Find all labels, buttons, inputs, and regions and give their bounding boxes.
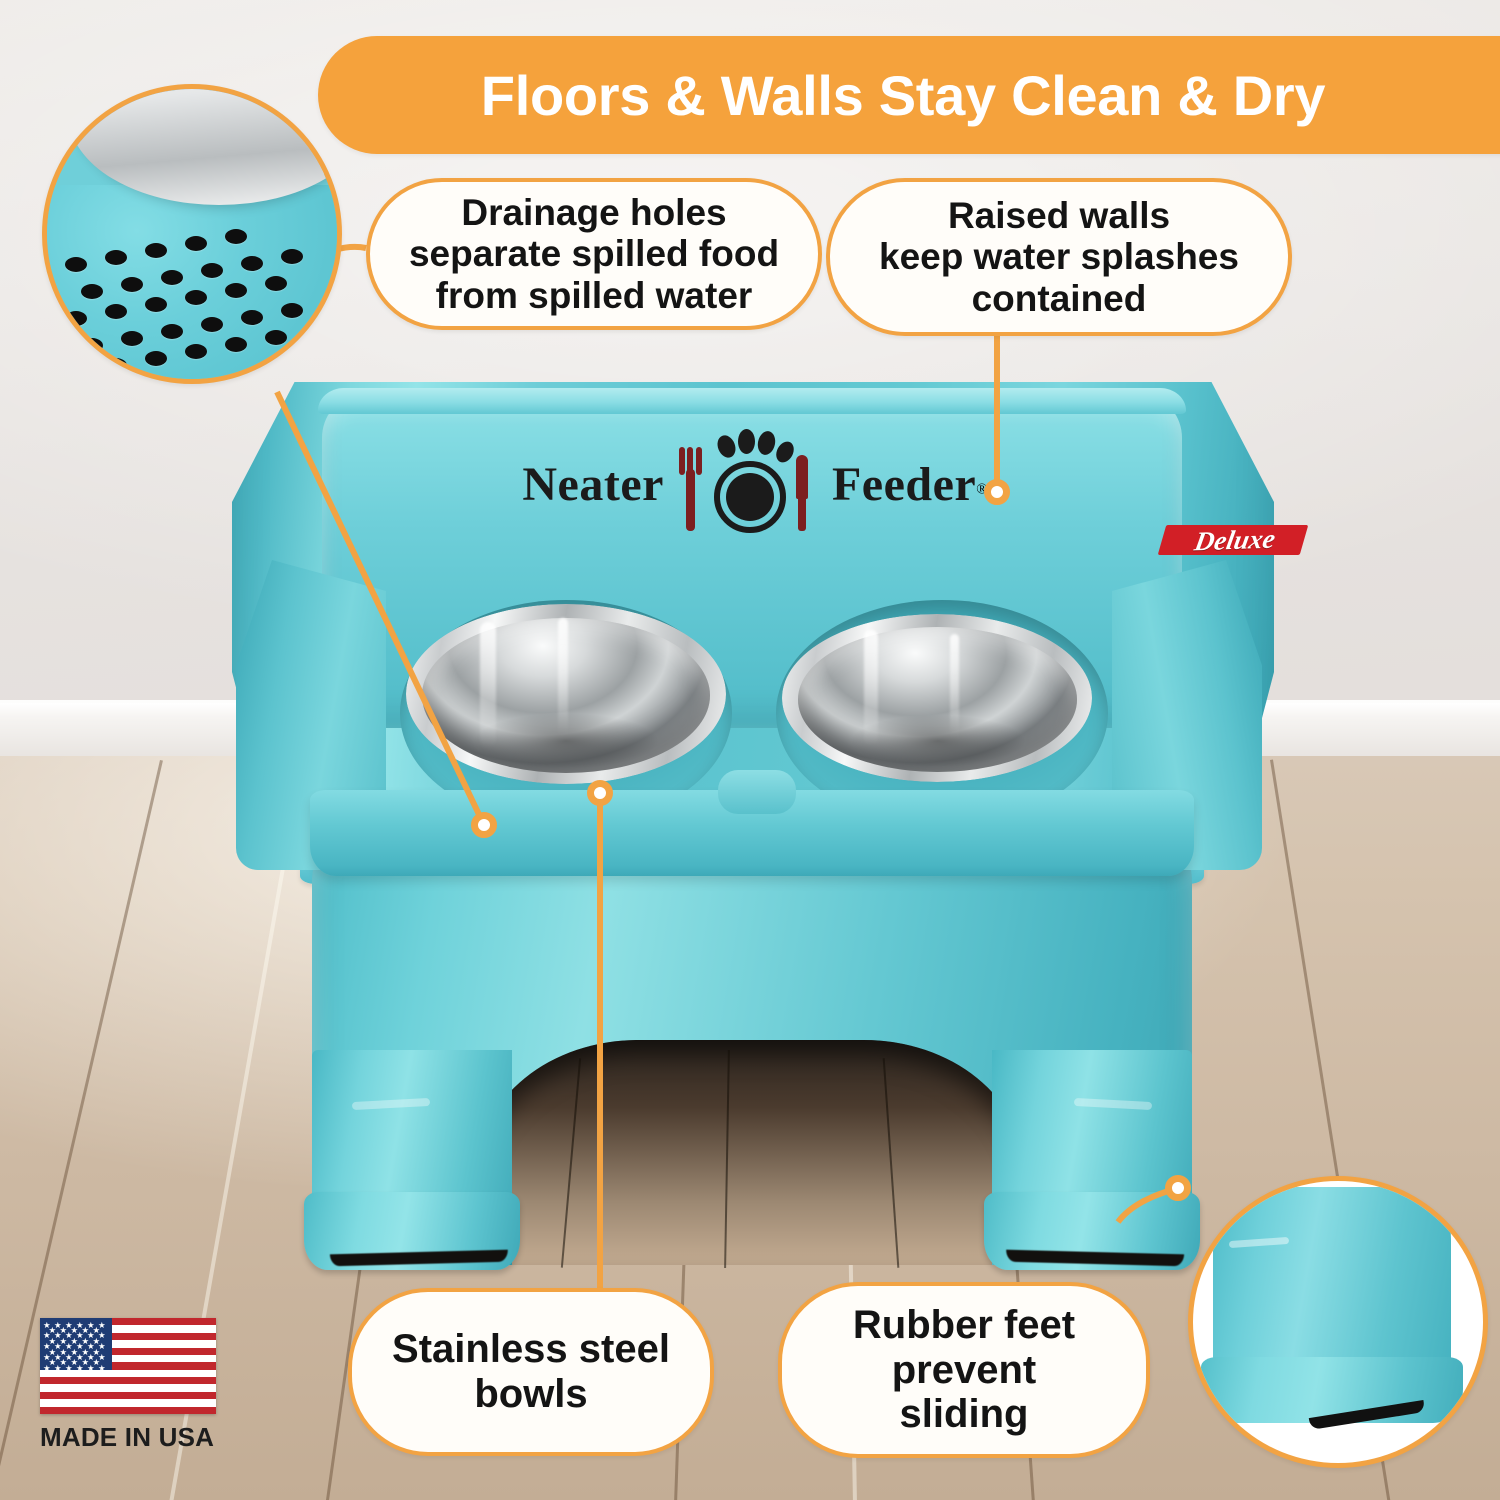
drainage-hole [281, 303, 303, 318]
header-banner: Floors & Walls Stay Clean & Dry [318, 36, 1500, 154]
drainage-hole [225, 229, 247, 244]
drainage-hole [265, 276, 287, 291]
drainage-hole [161, 270, 183, 285]
connector-endpoint-feet [1165, 1175, 1191, 1201]
flag-star: ★ [76, 1364, 84, 1373]
inset-drainage-holes [42, 84, 342, 384]
inset-foot-base [1201, 1357, 1463, 1423]
drainage-hole [185, 344, 207, 359]
paw-toe [756, 429, 778, 456]
arch-floor-seam [883, 1058, 900, 1268]
connector-endpoint-drainage [471, 812, 497, 838]
made-in-usa-label: MADE IN USA [40, 1422, 236, 1453]
paw-plate-fork-knife-icon [668, 433, 828, 537]
flag-stripe [40, 1384, 216, 1391]
drainage-hole [81, 338, 103, 353]
made-in-usa-badge: ★★★★★★★★★★★★★★★★★★★★★★★★★★★★★★★★★★★★★★★★… [40, 1318, 236, 1452]
logo-word-feeder: Feeder [832, 458, 976, 511]
drainage-hole [121, 277, 143, 292]
infographic-canvas: Neater Feeder® Deluxe [0, 0, 1500, 1500]
stainless-bowl-left [406, 604, 726, 784]
arch-floor-seam [561, 1058, 581, 1267]
flag-stripe [40, 1392, 216, 1399]
fork-tine [687, 447, 693, 475]
bowl-bottom-shadow [834, 710, 1042, 772]
fork-tine [679, 447, 685, 475]
drainage-hole [81, 284, 103, 299]
connector-endpoint-bowls [587, 780, 613, 806]
fork-icon [686, 469, 695, 531]
knife-handle [798, 495, 806, 531]
flag-canton: ★★★★★★★★★★★★★★★★★★★★★★★★★★★★★★★★★★★★★★★★… [40, 1318, 112, 1370]
logo-deluxe-label: Deluxe [1160, 521, 1309, 560]
flag-star: ★ [54, 1364, 62, 1373]
flag-star: ★ [43, 1364, 51, 1373]
flag-stripe [40, 1399, 216, 1406]
drainage-hole [121, 331, 143, 346]
drainage-hole [241, 256, 263, 271]
paw-toe [714, 433, 738, 461]
feeder-top-rim [318, 388, 1186, 414]
drainage-hole [145, 243, 167, 258]
drainage-hole [201, 263, 223, 278]
callout-raised-walls: Raised walls keep water splashes contain… [826, 178, 1292, 336]
inset-leg-body [1213, 1187, 1451, 1383]
drainage-hole [225, 283, 247, 298]
drainage-hole [145, 351, 167, 366]
fork-tine [696, 447, 702, 475]
callout-rubber-feet: Rubber feet prevent sliding [778, 1282, 1150, 1458]
drainage-hole [65, 311, 87, 326]
flag-star: ★ [98, 1364, 106, 1373]
page-title: Floors & Walls Stay Clean & Dry [481, 63, 1347, 128]
callout-walls-text: Raised walls keep water splashes contain… [879, 195, 1239, 319]
neater-feeder-logo: Neater Feeder® Deluxe [520, 432, 990, 538]
drainage-hole [201, 317, 223, 332]
bowl-divider-ridge [718, 770, 796, 814]
base-arch-opening [478, 1040, 1024, 1265]
callout-stainless-bowls: Stainless steel bowls [348, 1288, 714, 1456]
logo-word-neater: Neater [522, 461, 664, 509]
paw-toe [773, 439, 797, 466]
knife-icon [796, 455, 808, 499]
stainless-bowl-right [782, 614, 1092, 782]
callout-bowls-text: Stainless steel bowls [392, 1327, 670, 1417]
paw-toe [738, 429, 755, 454]
callout-feet-text: Rubber feet prevent sliding [853, 1303, 1075, 1437]
flag-star: ★ [65, 1364, 73, 1373]
bowl-bottom-shadow [456, 708, 676, 774]
flag-stripe [40, 1377, 216, 1384]
drainage-hole [161, 324, 183, 339]
flag-star: ★ [87, 1364, 95, 1373]
inset-rubber-foot [1188, 1176, 1488, 1468]
drainage-hole [185, 236, 207, 251]
drainage-hole [65, 257, 87, 272]
drainage-hole [145, 297, 167, 312]
callout-drainage-text: Drainage holes separate spilled food fro… [409, 192, 779, 316]
drainage-hole [105, 250, 127, 265]
drainage-hole [281, 249, 303, 264]
drainage-hole [65, 365, 87, 380]
drainage-hole [185, 290, 207, 305]
connector-endpoint-walls [984, 479, 1010, 505]
plate-center [726, 473, 774, 521]
drainage-hole [105, 304, 127, 319]
callout-drainage-holes: Drainage holes separate spilled food fro… [366, 178, 822, 330]
drainage-hole [225, 337, 247, 352]
drainage-hole [241, 310, 263, 325]
flag-stripe [40, 1407, 216, 1414]
drainage-hole [265, 330, 287, 345]
arch-floor-seam [724, 1050, 730, 1268]
us-flag-icon: ★★★★★★★★★★★★★★★★★★★★★★★★★★★★★★★★★★★★★★★★… [40, 1318, 216, 1414]
drainage-hole [105, 358, 127, 373]
